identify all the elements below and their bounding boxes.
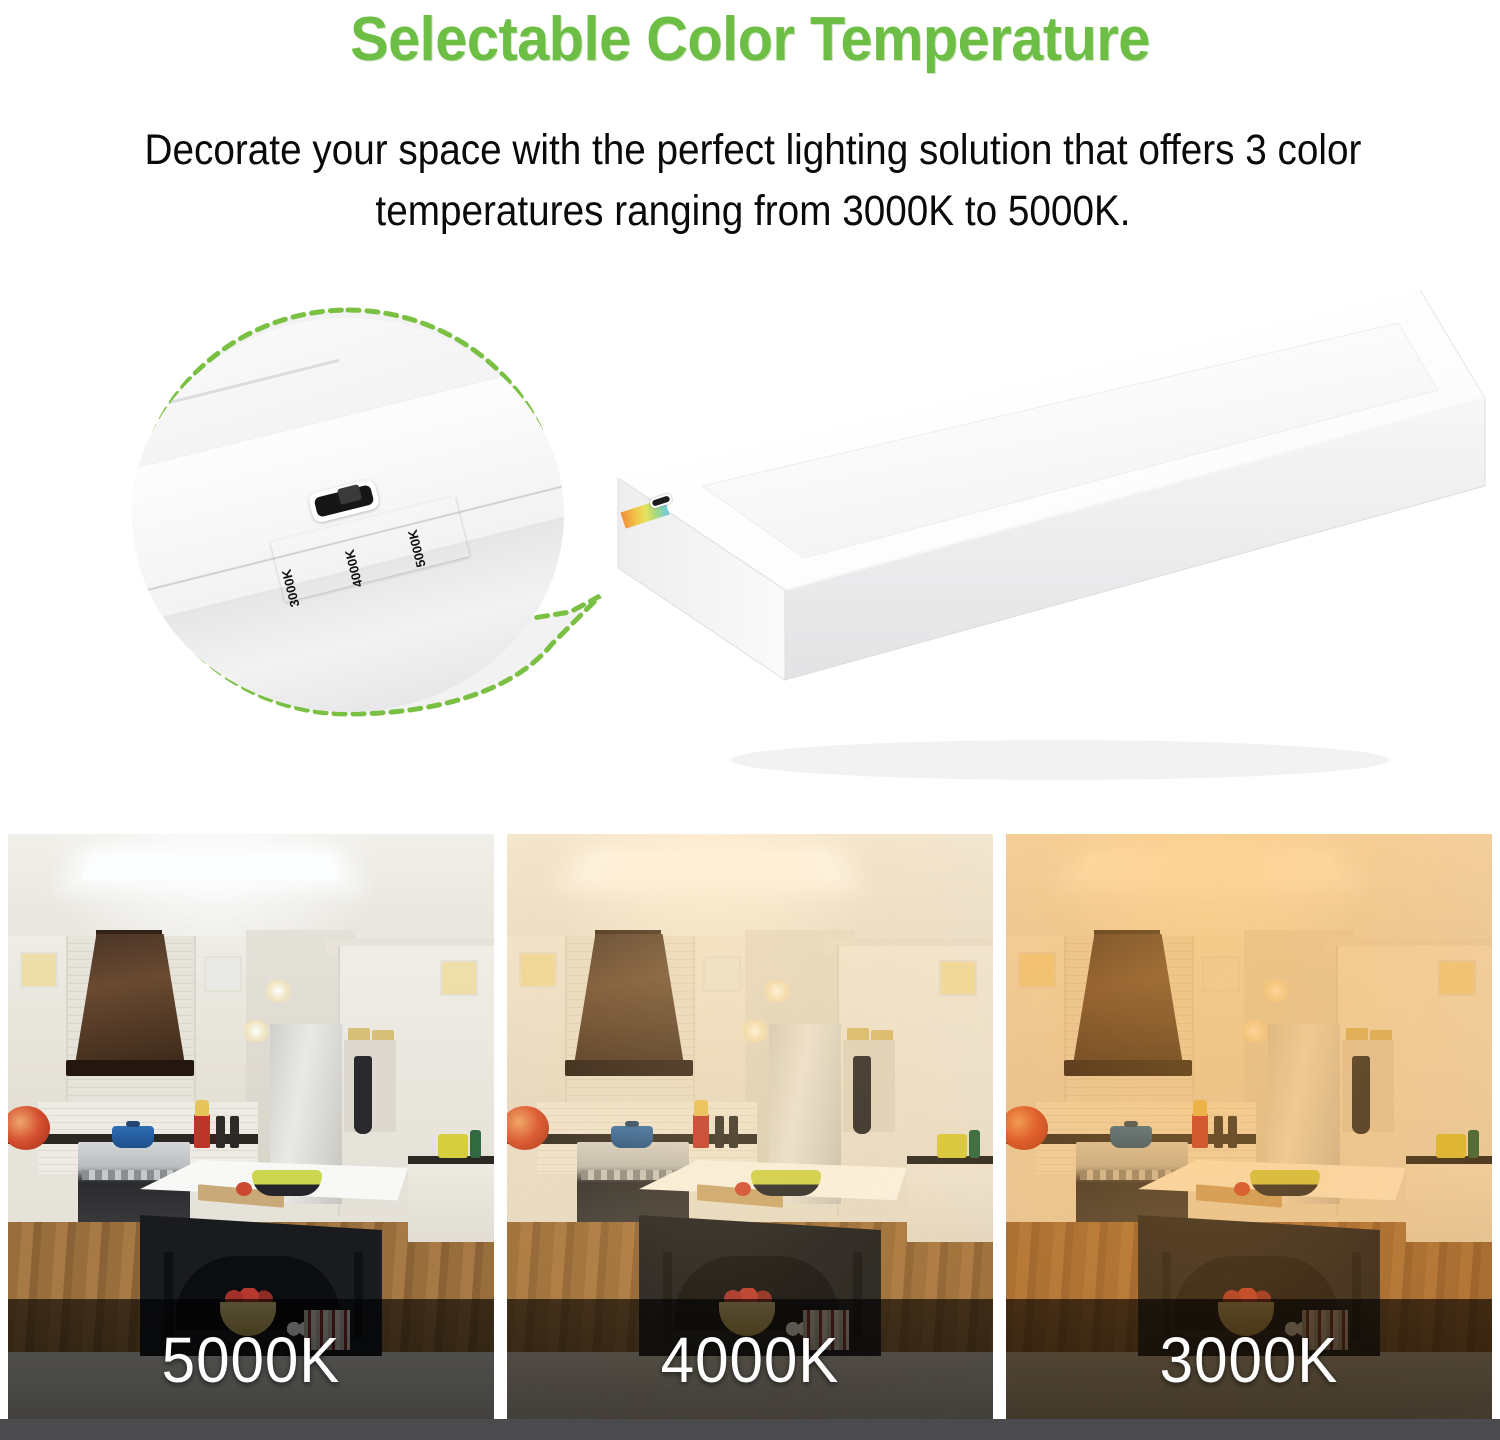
header-section: Selectable Color Temperature Decorate yo… xyxy=(0,0,1500,270)
color-temperature-comparison: 5000K xyxy=(8,834,1492,1419)
swatch-label-5000k: 5000K xyxy=(405,528,429,569)
swatch-label-4000k: 4000K xyxy=(342,548,366,589)
page-subtitle: Decorate your space with the perfect lig… xyxy=(128,120,1379,242)
magnifier-callout: 3000K 4000K 5000K xyxy=(100,300,640,720)
callout-photo: 3000K 4000K 5000K xyxy=(132,318,564,712)
panel-light-illustration xyxy=(590,290,1490,790)
scene-label-4000k: 4000K xyxy=(522,1323,979,1397)
scene-photo-5000k[interactable]: 5000K xyxy=(8,834,494,1419)
ceiling-panel-light xyxy=(80,853,342,880)
hero-section: 3000K 4000K 5000K xyxy=(0,280,1500,834)
page-title: Selectable Color Temperature xyxy=(53,4,1448,75)
scene-photo-4000k[interactable]: 4000K xyxy=(507,834,993,1419)
footer-strip xyxy=(0,1419,1500,1440)
scene-label-5000k: 5000K xyxy=(23,1323,480,1397)
ceiling-panel-light xyxy=(1078,853,1340,880)
scene-photo-3000k[interactable]: 3000K xyxy=(1006,834,1492,1419)
product-image xyxy=(590,290,1490,790)
scene-label-3000k: 3000K xyxy=(1021,1323,1478,1397)
ceiling-panel-light xyxy=(579,853,841,880)
